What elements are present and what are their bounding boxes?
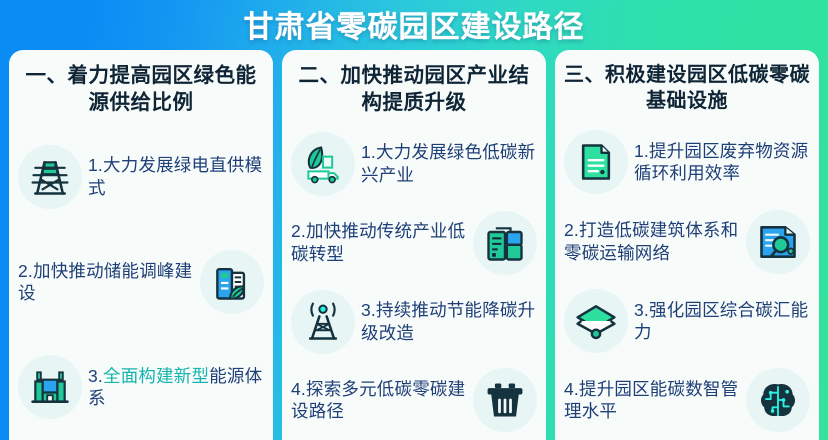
list-item-label: 3.强化园区综合碳汇能力 bbox=[634, 299, 810, 344]
list-item[interactable]: 2.加快推动储能调峰建设 bbox=[18, 249, 264, 315]
list-item-label-prefix: 3. bbox=[88, 366, 103, 386]
list-item[interactable]: 1.大力发展绿色低碳新兴产业 bbox=[291, 131, 537, 197]
building-leaf-icon bbox=[200, 250, 264, 314]
list-item-label: 1.大力发展绿电直供模式 bbox=[88, 154, 264, 199]
column-2-header: 二、加快推动园区产业结构提质升级 bbox=[291, 62, 537, 116]
column-3-header: 三、积极建设园区低碳零碳基础设施 bbox=[564, 62, 810, 115]
list-item-label: 3.全面构建新型能源体系 bbox=[88, 365, 264, 410]
document-recycle-icon bbox=[564, 130, 628, 194]
list-item[interactable]: 3.持续推动节能降碳升级改造 bbox=[291, 289, 537, 355]
list-item[interactable]: 1.提升园区废弃物资源循环利用效率 bbox=[564, 129, 810, 195]
infographic-poster: 甘肃省零碳园区建设路径 一、着力提高园区绿色能源供给比例 bbox=[0, 0, 828, 440]
column-2-items: 1.大力发展绿色低碳新兴产业 2.加快推动传统产业低碳转型 bbox=[291, 124, 537, 440]
column-3-items: 1.提升园区废弃物资源循环利用效率 2.打造低碳建筑体系和零碳运输 bbox=[564, 123, 810, 440]
list-item[interactable]: 3.强化园区综合碳汇能力 bbox=[564, 288, 810, 354]
trash-bin-icon bbox=[473, 368, 537, 432]
list-item[interactable]: 4.探索多元低碳零碳建设路径 bbox=[291, 367, 537, 433]
list-item[interactable]: 1.大力发展绿电直供模式 bbox=[18, 144, 264, 210]
ai-brain-icon bbox=[746, 368, 810, 432]
list-item[interactable]: 4.提升园区能碳数智管理水平 bbox=[564, 367, 810, 433]
list-item-label: 1.提升园区废弃物资源循环利用效率 bbox=[634, 140, 810, 185]
column-card-3: 三、积极建设园区低碳零碳基础设施 1.提升园区废弃物资源循环利用效率 bbox=[555, 50, 819, 440]
columns-container: 一、着力提高园区绿色能源供给比例 1.大力发展绿电直供模式 bbox=[0, 50, 828, 440]
column-card-1: 一、着力提高园区绿色能源供给比例 1.大力发展绿电直供模式 bbox=[9, 50, 273, 440]
column-1-items: 1.大力发展绿电直供模式 2.加快推 bbox=[18, 124, 264, 440]
document-search-icon bbox=[746, 210, 810, 274]
list-item[interactable]: 2.打造低碳建筑体系和零碳运输网络 bbox=[564, 209, 810, 275]
column-1-header: 一、着力提高园区绿色能源供给比例 bbox=[18, 62, 264, 116]
list-item[interactable]: 2.加快推动传统产业低碳转型 bbox=[291, 210, 537, 276]
list-item-label: 1.大力发展绿色低碳新兴产业 bbox=[361, 141, 537, 186]
list-item-label-highlight: 全面构建新型 bbox=[103, 366, 209, 386]
list-item-label: 4.探索多元低碳零碳建设路径 bbox=[291, 378, 467, 423]
layers-carbon-sink-icon bbox=[564, 289, 628, 353]
list-item-label: 2.加快推动储能调峰建设 bbox=[18, 260, 194, 305]
poster-title-bar: 甘肃省零碳园区建设路径 bbox=[0, 0, 828, 48]
factory-plant-icon bbox=[18, 355, 82, 419]
list-item[interactable]: 3.全面构建新型能源体系 bbox=[18, 354, 264, 420]
poster-title: 甘肃省零碳园区建设路径 bbox=[244, 2, 585, 46]
signal-tower-icon bbox=[291, 290, 355, 354]
column-card-2: 二、加快推动园区产业结构提质升级 1.大 bbox=[282, 50, 546, 440]
list-item-label: 2.加快推动传统产业低碳转型 bbox=[291, 220, 467, 265]
leaf-truck-icon bbox=[291, 132, 355, 196]
list-item-label: 3.持续推动节能降碳升级改造 bbox=[361, 299, 537, 344]
list-item-label: 4.提升园区能碳数智管理水平 bbox=[564, 378, 740, 423]
industry-server-icon bbox=[473, 211, 537, 275]
list-item-label: 2.打造低碳建筑体系和零碳运输网络 bbox=[564, 219, 740, 264]
transmission-tower-icon bbox=[18, 145, 82, 209]
